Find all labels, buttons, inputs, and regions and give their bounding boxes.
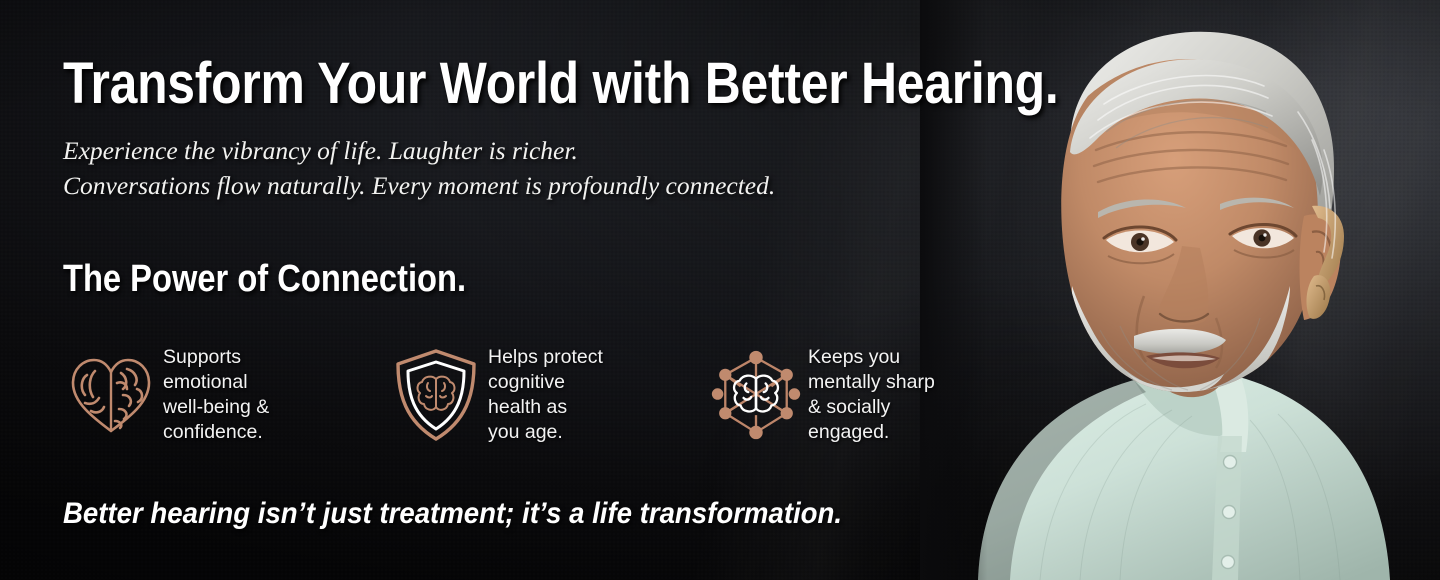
- network-node: [781, 369, 793, 381]
- shield-brain-icon: [388, 347, 484, 443]
- network-node: [781, 407, 793, 419]
- network-node: [712, 388, 724, 400]
- shirt-button: [1223, 506, 1236, 519]
- feature-item: Keeps you mentally sharp & socially enga…: [708, 345, 1008, 445]
- feature-text: Supports emotional well-being & confiden…: [159, 345, 269, 445]
- features-list: Supports emotional well-being & confiden…: [63, 345, 1008, 445]
- network-node: [789, 388, 801, 400]
- heart-brain-icon: [63, 351, 159, 439]
- feature-text: Helps protect cognitive health as you ag…: [484, 345, 603, 445]
- network-brain-icon: [708, 346, 804, 444]
- subheading: Experience the vibrancy of life. Laughte…: [63, 133, 775, 203]
- page-title: Transform Your World with Better Hearing…: [63, 50, 1058, 117]
- shirt-button: [1222, 556, 1235, 569]
- network-node: [749, 426, 762, 439]
- content-column: Transform Your World with Better Hearing…: [63, 0, 1023, 580]
- hearing-banner: Transform Your World with Better Hearing…: [0, 0, 1440, 580]
- feature-item: Supports emotional well-being & confiden…: [63, 345, 388, 445]
- subheading-line-1: Experience the vibrancy of life. Laughte…: [63, 133, 775, 168]
- network-node: [749, 351, 762, 364]
- tagline: Better hearing isn’t just treatment; it’…: [63, 497, 842, 531]
- section-heading: The Power of Connection.: [63, 258, 466, 301]
- feature-text: Keeps you mentally sharp & socially enga…: [804, 345, 935, 445]
- network-node: [719, 369, 731, 381]
- network-node: [719, 407, 731, 419]
- feature-item: Helps protect cognitive health as you ag…: [388, 345, 708, 445]
- shirt-button: [1224, 456, 1237, 469]
- subheading-line-2: Conversations flow naturally. Every mome…: [63, 168, 775, 203]
